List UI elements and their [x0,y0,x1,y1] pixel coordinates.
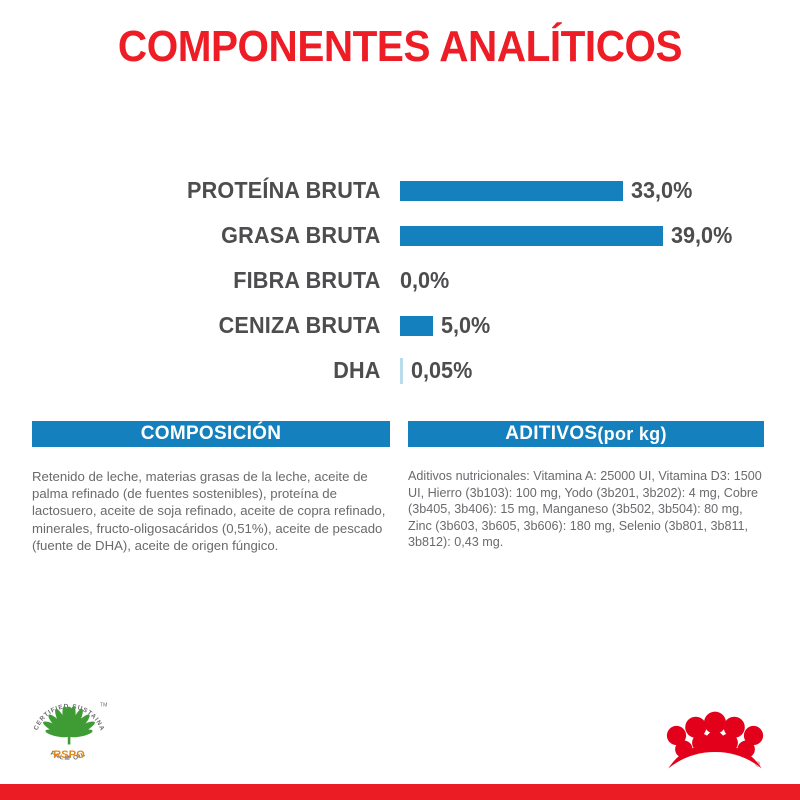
composition-heading: COMPOSICIÓN [32,421,390,447]
additives-heading-main: ADITIVOS [505,423,597,445]
additives-panel: ADITIVOS (por kg) Aditivos nutricionales… [408,421,764,551]
chart-row-value: 5,0% [441,312,490,339]
composition-body: Retenido de leche, materias grasas de la… [32,468,390,554]
chart-bar [400,181,623,201]
chart-row-value: 0,05% [411,357,472,384]
composition-panel: COMPOSICIÓN Retenido de leche, materias … [32,421,390,554]
chart-bar [400,358,403,384]
chart-row: CENIZA BRUTA 5,0% [0,303,800,348]
chart-row-value: 39,0% [671,222,732,249]
additives-body: Aditivos nutricionales: Vitamina A: 2500… [408,468,764,551]
royal-canin-crown-logo: ® [660,708,770,774]
analytical-components-chart: PROTEÍNA BRUTA 33,0% GRASA BRUTA 39,0% F… [0,168,800,393]
chart-row-value: 0,0% [400,267,449,294]
chart-row-label: GRASA BRUTA [23,222,390,249]
svg-text:RSPO: RSPO [53,749,85,761]
chart-bar [400,226,663,246]
chart-row-label: FIBRA BRUTA [23,267,390,294]
chart-row-barzone: 0,05% [400,348,476,393]
additives-heading: ADITIVOS (por kg) [408,421,764,447]
chart-bar [400,316,433,336]
chart-row-barzone: 5,0% [400,303,493,348]
chart-row-label: CENIZA BRUTA [23,312,390,339]
chart-row-value: 33,0% [631,177,692,204]
chart-row: PROTEÍNA BRUTA 33,0% [0,168,800,213]
registered-mark: ® [755,761,760,769]
chart-row-barzone: 39,0% [400,213,736,258]
chart-row: GRASA BRUTA 39,0% [0,213,800,258]
rspo-palm-oil-logo: CERTIFIED SUSTAINABLE PALM OIL TM [26,686,112,772]
chart-row-label: DHA [23,357,390,384]
footer-red-stripe [0,784,800,800]
chart-row: FIBRA BRUTA 0,0% [0,258,800,303]
chart-row-barzone: 0,0% [400,258,452,303]
additives-heading-sub: (por kg) [597,424,666,445]
rspo-logo-svg: CERTIFIED SUSTAINABLE PALM OIL TM [26,686,112,772]
chart-row-label: PROTEÍNA BRUTA [23,177,390,204]
page-title: COMPONENTES ANALÍTICOS [32,22,768,72]
svg-text:TM: TM [100,703,107,709]
chart-row-barzone: 33,0% [400,168,696,213]
crown-logo-svg: ® [660,708,770,774]
chart-row: DHA 0,05% [0,348,800,393]
